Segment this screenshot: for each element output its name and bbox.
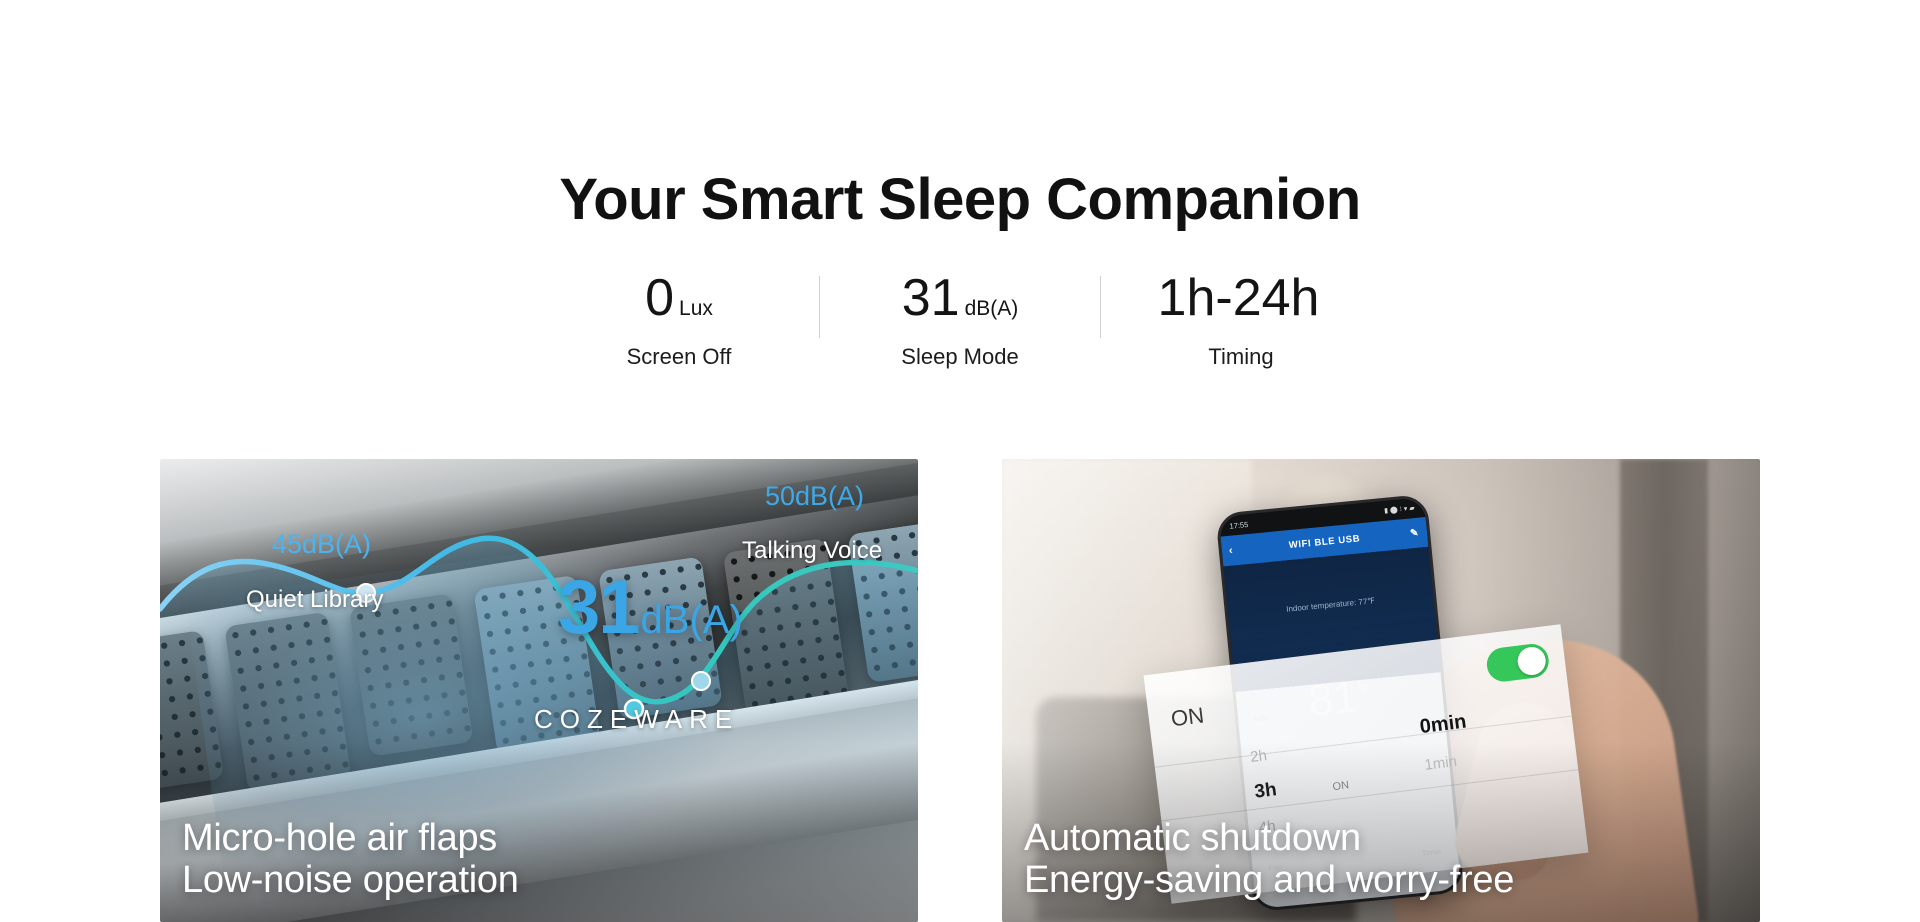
indoor-temperature-readout: Indoor temperature: 77℉: [1228, 591, 1434, 620]
stat-unit: dB(A): [965, 298, 1019, 319]
caption-line-2: Low-noise operation: [182, 859, 519, 902]
status-time: 17:55: [1229, 519, 1249, 530]
caption-line-2: Energy-saving and worry-free: [1024, 859, 1514, 902]
stat-timing: 1h-24h Timing: [1137, 272, 1345, 370]
stats-row: 0 Lux Screen Off 31 dB(A) Sleep Mode 1h-…: [0, 272, 1920, 370]
stat-number: 1h-24h: [1158, 272, 1320, 324]
stat-sleep-mode: 31 dB(A) Sleep Mode: [856, 272, 1064, 370]
minute-option[interactable]: 1min: [1424, 741, 1555, 774]
back-icon[interactable]: ‹: [1228, 545, 1233, 557]
stat-value: 0 Lux: [575, 272, 783, 324]
stat-number: 31: [902, 272, 960, 324]
stat-value: 1h-24h: [1137, 272, 1345, 324]
stat-screen-off: 0 Lux Screen Off: [575, 272, 783, 370]
stat-value: 31 dB(A): [856, 272, 1064, 324]
stat-divider: [1100, 276, 1101, 338]
brand-logo-cozeware: COZEWARE: [534, 704, 739, 735]
feature-card-auto-shutdown[interactable]: 17:55 ▮ ⬤ ⁝ ▾ ▰ ‹ WIFI BLE USB ✎ Indoor …: [1002, 459, 1760, 922]
stat-label: Screen Off: [575, 344, 783, 370]
timer-toggle-switch[interactable]: [1485, 642, 1551, 683]
minute-picker[interactable]: 0min 1min: [1419, 700, 1557, 791]
toggle-knob: [1516, 645, 1547, 676]
feature-cards: 45dB(A) Quiet Library 50dB(A) Talking Vo…: [160, 459, 1760, 922]
hour-option-selected[interactable]: 3h: [1253, 764, 1405, 804]
feature-card-low-noise[interactable]: 45dB(A) Quiet Library 50dB(A) Talking Vo…: [160, 459, 918, 922]
caption-line-1: Automatic shutdown: [1024, 817, 1514, 860]
stat-divider: [819, 276, 820, 338]
stat-number: 0: [645, 272, 674, 324]
curve-point-talking-voice: [692, 672, 710, 690]
stat-unit: Lux: [679, 298, 713, 319]
app-title: WIFI BLE USB: [1288, 533, 1360, 551]
stat-label: Timing: [1137, 344, 1345, 370]
card-caption-left: Micro-hole air flaps Low-noise operation: [182, 817, 519, 902]
edit-icon[interactable]: ✎: [1410, 527, 1420, 539]
curve-point-quiet-library: [357, 584, 375, 602]
overlay-on-small: ON: [1332, 779, 1350, 793]
minute-option-selected[interactable]: 0min: [1419, 700, 1551, 739]
status-icons: ▮ ⬤ ⁝ ▾ ▰: [1384, 504, 1415, 515]
stat-label: Sleep Mode: [856, 344, 1064, 370]
card-caption-right: Automatic shutdown Energy-saving and wor…: [1024, 817, 1514, 902]
marketing-page: Your Smart Sleep Companion 0 Lux Screen …: [0, 0, 1920, 922]
overlay-on-title: ON: [1170, 702, 1206, 732]
hour-option[interactable]: 2h: [1249, 731, 1400, 766]
page-title: Your Smart Sleep Companion: [0, 168, 1920, 232]
caption-line-1: Micro-hole air flaps: [182, 817, 519, 860]
